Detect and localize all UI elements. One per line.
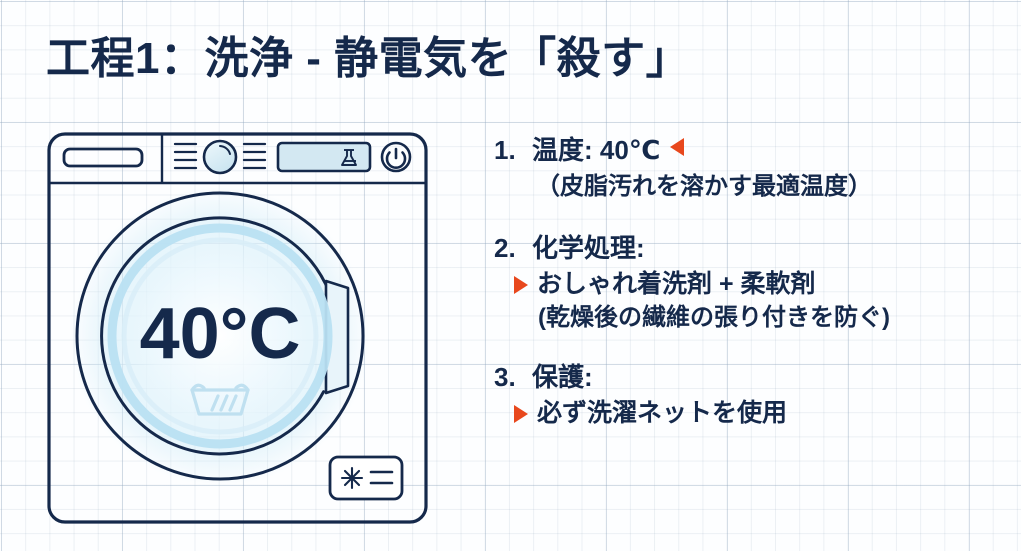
step-1: 1. 温度: 40℃ （皮脂汚れを溶かす最適温度） [494,134,1004,202]
step-3-number: 3. [494,361,532,394]
detergent-drawer [64,149,142,166]
triangle-left-icon [670,138,684,156]
step-3-sub: 必ず洗濯ネットを使用 [514,397,1004,430]
triangle-right-icon [514,276,528,294]
step-2-sub: おしゃれ着洗剤 + 柔軟剤 [514,268,1004,301]
step-2: 2. 化学処理: おしゃれ着洗剤 + 柔軟剤 (乾燥後の繊維の張り付きを防ぐ) [494,232,1004,333]
step-1-note: （皮脂汚れを溶かす最適温度） [536,171,1004,202]
power-icon [382,143,410,171]
step-2-head: 2. 化学処理: [494,232,1004,265]
washing-machine-illustration: 40°C [40,126,436,530]
program-dial [175,141,265,173]
step-1-number: 1. [494,134,532,167]
slide-canvas: 工程1：洗浄 - 静電気を「殺す」 [0,0,1021,551]
step-1-title: 温度: 40℃ [532,134,660,167]
step-3-sub-label: 必ず洗濯ネットを使用 [537,397,787,430]
snowflake-icon [342,468,362,488]
control-display [278,143,370,171]
page-title: 工程1：洗浄 - 静電気を「殺す」 [46,34,690,85]
steps-list: 1. 温度: 40℃ （皮脂汚れを溶かす最適温度） 2. 化学処理: おしゃれ着… [494,134,1004,443]
step-3-title: 保護: [532,361,593,394]
triangle-right-icon [514,405,528,423]
step-2-title: 化学処理: [532,232,645,265]
step-1-head: 1. 温度: 40℃ [494,134,1004,167]
step-2-number: 2. [494,232,532,265]
step-3: 3. 保護: 必ず洗濯ネットを使用 [494,361,1004,429]
step-2-sub-note: (乾燥後の繊維の張り付きを防ぐ) [538,302,1004,333]
drum-temperature: 40°C [140,294,301,374]
eco-badge [330,457,402,499]
step-2-sub-label: おしゃれ着洗剤 + 柔軟剤 [537,268,816,301]
step-3-head: 3. 保護: [494,361,1004,394]
